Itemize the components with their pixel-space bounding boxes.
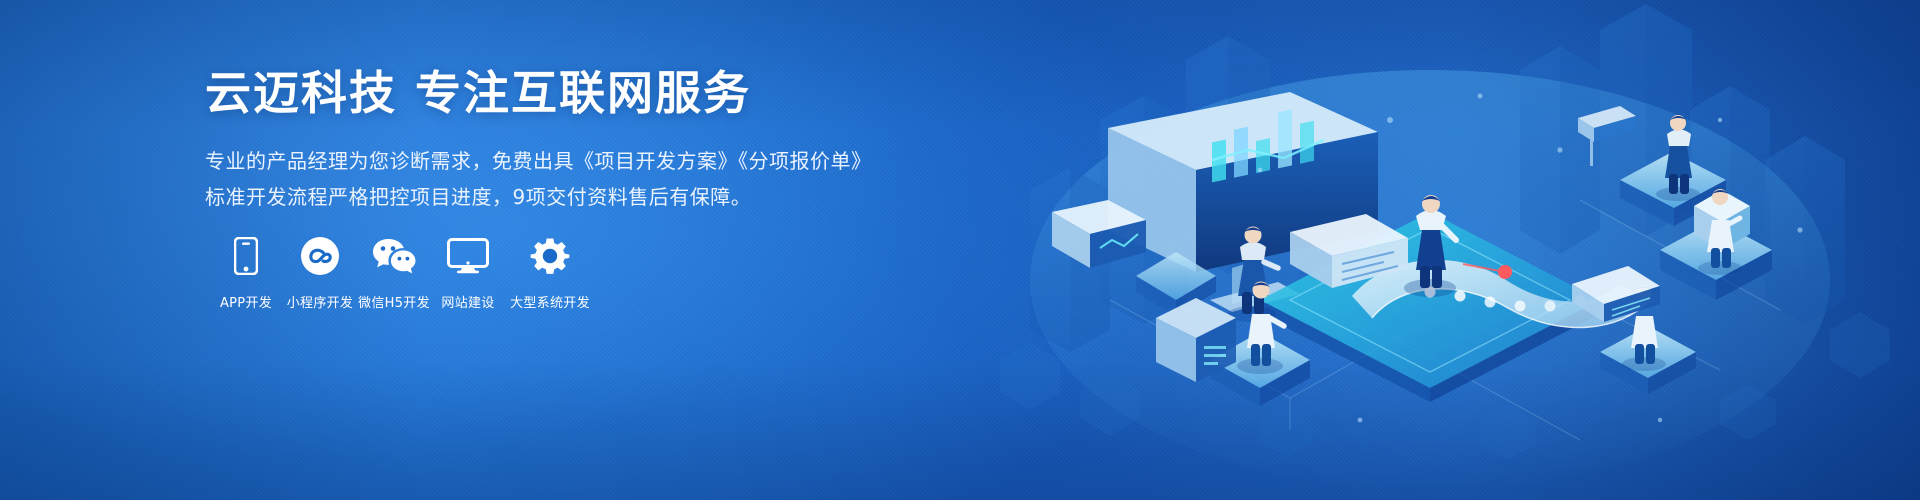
hero-subtitle-line-2: 标准开发流程严格把控项目进度，9项交付资料售后有保障。 [205, 180, 965, 214]
service-label-app: APP开发 [220, 292, 272, 311]
isometric-illustration [960, 0, 1920, 500]
wechat-icon [372, 232, 416, 280]
service-item-system[interactable]: 大型系统开发 [504, 232, 596, 311]
service-label-miniprogram: 小程序开发 [287, 292, 354, 311]
service-item-miniprogram[interactable]: 小程序开发 [284, 232, 356, 311]
gear-icon [530, 232, 570, 280]
hero-copy: 云迈科技 专注互联网服务 专业的产品经理为您诊断需求，免费出具《项目开发方案》《… [205, 66, 965, 214]
monitor-icon [447, 232, 489, 280]
service-item-website[interactable]: 网站建设 [432, 232, 504, 311]
hero-subtitle-line-1: 专业的产品经理为您诊断需求，免费出具《项目开发方案》《分项报价单》 [205, 144, 965, 178]
service-item-app[interactable]: APP开发 [208, 232, 284, 311]
service-label-website: 网站建设 [441, 292, 494, 311]
page-title: 云迈科技 专注互联网服务 [205, 66, 965, 120]
service-label-wechat: 微信H5开发 [358, 292, 430, 311]
hero-banner: 云迈科技 专注互联网服务 专业的产品经理为您诊断需求，免费出具《项目开发方案》《… [0, 0, 1920, 500]
mini-program-icon [300, 232, 340, 280]
mobile-phone-icon [234, 232, 258, 280]
service-list: APP开发 小程序开发 [208, 232, 596, 311]
service-label-system: 大型系统开发 [510, 292, 590, 311]
service-item-wechat[interactable]: 微信H5开发 [356, 232, 432, 311]
